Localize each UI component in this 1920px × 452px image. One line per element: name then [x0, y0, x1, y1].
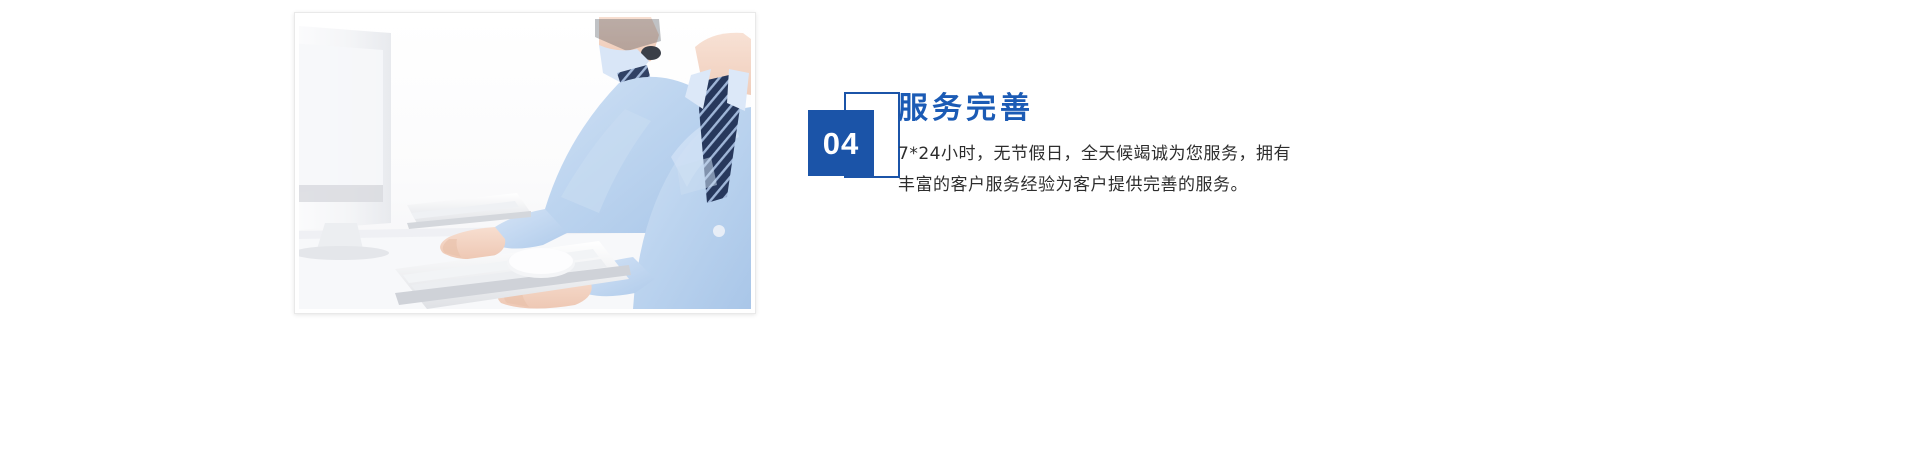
office-photo [299, 17, 751, 309]
photo-frame [294, 12, 756, 314]
feature-banner: 04 服务完善 7*24小时，无节假日，全天候竭诚为您服务，拥有丰富的客户服务经… [0, 0, 1920, 452]
badge-number: 04 [808, 110, 874, 176]
feature-text-column: 服务完善 7*24小时，无节假日，全天候竭诚为您服务，拥有丰富的客户服务经验为客… [898, 92, 1318, 201]
feature-title: 服务完善 [898, 92, 1318, 127]
feature-description: 7*24小时，无节假日，全天候竭诚为您服务，拥有丰富的客户服务经验为客户提供完善… [898, 139, 1298, 201]
feature-content: 04 服务完善 7*24小时，无节假日，全天候竭诚为您服务，拥有丰富的客户服务经… [808, 92, 1508, 292]
mouse [507, 248, 575, 278]
office-photo-illustration [299, 17, 751, 309]
step-badge: 04 [808, 110, 904, 196]
